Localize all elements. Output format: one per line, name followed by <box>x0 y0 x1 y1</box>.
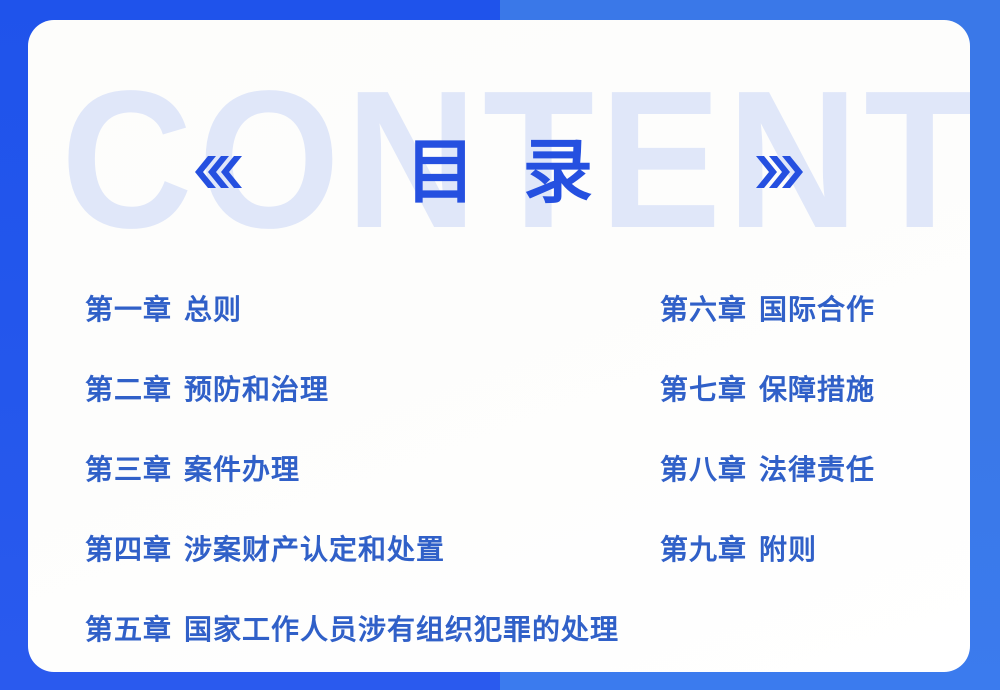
chapter-title: 附则 <box>759 533 817 567</box>
chapter-title: 保障措施 <box>759 373 875 407</box>
list-item[interactable]: 第三章 案件办理 <box>85 430 619 510</box>
chapter-number: 第三章 <box>85 453 172 487</box>
toc-column-right: 第六章 国际合作 第七章 保障措施 第八章 法律责任 第九章 附则 <box>660 270 875 590</box>
chapter-number: 第二章 <box>85 373 172 407</box>
chapter-title: 预防和治理 <box>184 373 329 407</box>
chapter-title: 总则 <box>184 293 242 327</box>
triple-chevron-left-icon <box>187 152 245 192</box>
page-title: 目 录 <box>391 136 606 208</box>
chapter-number: 第七章 <box>660 373 747 407</box>
chapter-title: 国际合作 <box>759 293 875 327</box>
chapter-number: 第四章 <box>85 533 172 567</box>
list-item[interactable]: 第九章 附则 <box>660 510 875 590</box>
toc-column-left: 第一章 总则 第二章 预防和治理 第三章 案件办理 第四章 涉案财产认定和处置 … <box>85 270 619 670</box>
chapter-number: 第八章 <box>660 453 747 487</box>
chapter-title: 国家工作人员涉有组织犯罪的处理 <box>184 613 619 647</box>
chapter-title: 法律责任 <box>759 453 875 487</box>
triple-chevron-right-icon <box>753 152 811 192</box>
chapter-title: 涉案财产认定和处置 <box>184 533 445 567</box>
chapter-title: 案件办理 <box>184 453 300 487</box>
list-item[interactable]: 第八章 法律责任 <box>660 430 875 510</box>
title-row: 目 录 <box>28 124 970 220</box>
list-item[interactable]: 第七章 保障措施 <box>660 350 875 430</box>
chapter-number: 第一章 <box>85 293 172 327</box>
chapter-number: 第五章 <box>85 613 172 647</box>
list-item[interactable]: 第四章 涉案财产认定和处置 <box>85 510 619 590</box>
list-item[interactable]: 第二章 预防和治理 <box>85 350 619 430</box>
list-item[interactable]: 第五章 国家工作人员涉有组织犯罪的处理 <box>85 590 619 670</box>
list-item[interactable]: 第一章 总则 <box>85 270 619 350</box>
content-card: CONTENT 目 录 <box>28 20 970 672</box>
slide-root: CONTENT 目 录 <box>0 0 1000 690</box>
list-item[interactable]: 第六章 国际合作 <box>660 270 875 350</box>
chapter-number: 第九章 <box>660 533 747 567</box>
chapter-number: 第六章 <box>660 293 747 327</box>
